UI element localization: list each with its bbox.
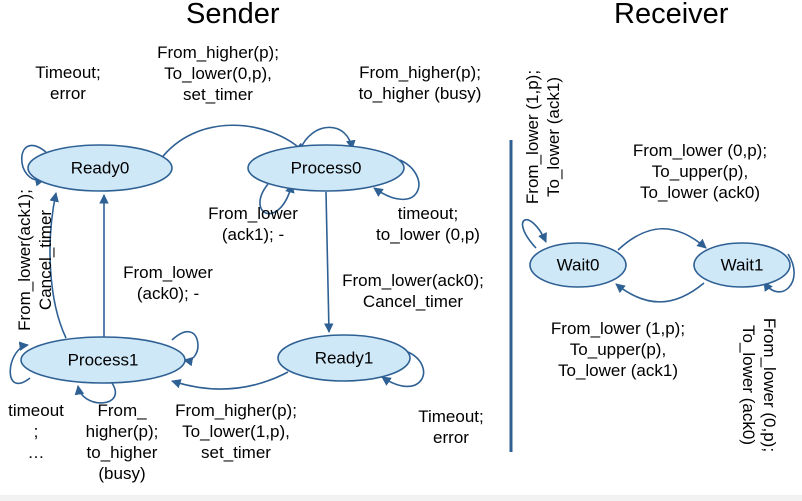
state-wait0-label: Wait0 — [557, 255, 600, 274]
state-ready1-label: Ready1 — [315, 348, 374, 367]
edge-wait1-to-wait0 — [616, 283, 704, 302]
label-process0-self-fromhigher: From_higher(p); to_higher (busy) — [330, 62, 510, 104]
label-ready1-to-process1: From_higher(p); To_lower(1,p), set_timer — [152, 400, 320, 463]
label-process0-self-ack1: From_lower (ack1); - — [188, 203, 318, 245]
edge-wait0-to-wait1 — [618, 229, 706, 250]
footer-rule — [0, 495, 802, 501]
label-wait0-to-wait1: From_lower (0,p); To_upper(p), To_lower … — [600, 140, 800, 203]
label-ready0-to-process0: From_higher(p); To_lower(0,p), set_timer — [128, 42, 308, 105]
label-process1-to-ready0-ack1: From_lower(ack1); Cancel_timer — [14, 180, 56, 340]
label-wait1-self: From_lower (0,p); To_lower (ack0) — [738, 290, 780, 480]
state-process0-label: Process0 — [291, 158, 362, 177]
label-wait0-self: From_lower (1,p); To_lower (ack1) — [522, 42, 564, 232]
state-wait1-label: Wait1 — [721, 255, 764, 274]
state-wait1[interactable]: Wait1 — [694, 243, 790, 287]
state-process0[interactable]: Process0 — [248, 145, 404, 191]
state-process1[interactable]: Process1 — [21, 337, 185, 383]
state-ready0-label: Ready0 — [71, 158, 130, 177]
edge-ready1-to-process1 — [172, 372, 288, 389]
label-ready1-self-timeout: Timeout; error — [396, 406, 506, 448]
label-ready0-self-timeout: Timeout; error — [8, 62, 128, 104]
label-wait1-to-wait0: From_lower (1,p); To_upper(p), To_lower … — [518, 318, 718, 381]
label-process1-to-ready0-ack0: From_lower (ack0); - — [98, 262, 238, 304]
state-wait0[interactable]: Wait0 — [530, 243, 626, 287]
label-process0-to-ready1: From_lower(ack0); Cancel_timer — [328, 270, 498, 312]
state-ready1[interactable]: Ready1 — [278, 335, 410, 381]
label-process0-self-timeout: timeout; to_lower (0,p) — [358, 203, 498, 245]
diagram-canvas: Ready0 Process0 Process1 Ready1 Wait0 Wa… — [0, 0, 802, 501]
panel-title-receiver: Receiver — [614, 0, 728, 31]
label-process1-self-timeout: timeout ; … — [0, 400, 72, 463]
panel-title-sender: Sender — [186, 0, 280, 31]
state-process1-label: Process1 — [68, 350, 139, 369]
